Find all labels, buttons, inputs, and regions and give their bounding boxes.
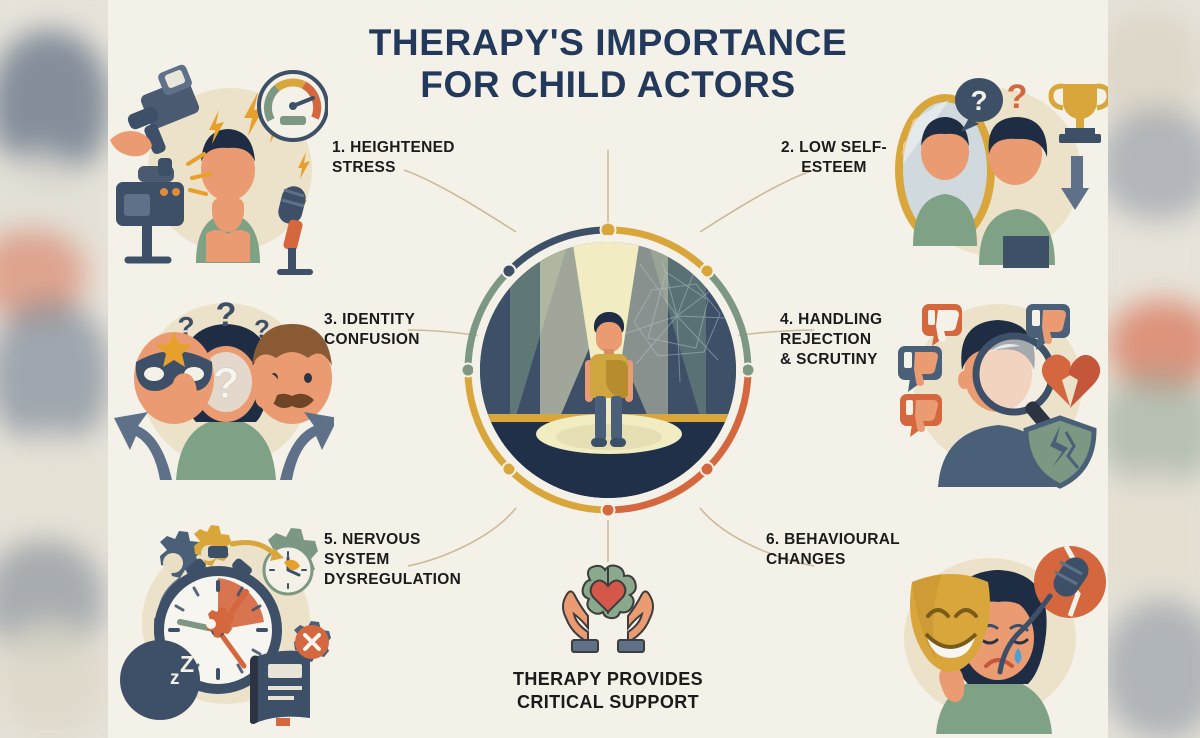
svg-text:?: ? bbox=[213, 359, 240, 408]
blurred-left-edge bbox=[0, 0, 108, 738]
infographic-canvas: Therapy's Importance for Child Actors bbox=[0, 0, 1200, 738]
hands-holding-brain-heart-icon bbox=[560, 562, 656, 654]
clock-gears-sleep-icon: z Z bbox=[116, 518, 336, 726]
stressed-child-with-cameras-icon bbox=[108, 58, 328, 278]
item-label-3: 3. Identity Confusion bbox=[324, 310, 474, 350]
svg-text:?: ? bbox=[1007, 78, 1028, 116]
svg-text:z: z bbox=[170, 668, 180, 689]
illustration-1 bbox=[108, 58, 328, 278]
svg-text:?: ? bbox=[970, 85, 987, 116]
blurred-right-edge bbox=[1108, 0, 1200, 738]
ring-node-left bbox=[462, 364, 475, 377]
illustration-5: z Z bbox=[116, 518, 336, 726]
ring-node-bottom bbox=[602, 504, 615, 517]
caption-line-1: Therapy Provides bbox=[513, 669, 703, 689]
item-label-1: 1. Heightened Stress bbox=[332, 138, 472, 178]
masks-identity-icon: ? ? ? ? bbox=[114, 280, 334, 485]
illustration-3: ? ? ? ? bbox=[114, 280, 334, 485]
title-line-1: Therapy's Importance bbox=[369, 22, 848, 63]
item-label-4: 4. Handling Rejection & Scrutiny bbox=[780, 310, 920, 369]
item-label-5: 5. Nervous System Dysregulation bbox=[324, 530, 504, 589]
center-graphic bbox=[460, 222, 756, 518]
poster-body: Therapy's Importance for Child Actors bbox=[108, 0, 1108, 738]
item-label-6: 6. Behavioural Changes bbox=[766, 530, 916, 570]
svg-text:?: ? bbox=[216, 296, 237, 334]
child-at-mirror-icon: ? ? bbox=[883, 60, 1108, 280]
footer-caption: Therapy Provides Critical Support bbox=[408, 668, 808, 715]
caption-line-2: Critical Support bbox=[408, 691, 808, 714]
spotlight-scene bbox=[480, 242, 736, 498]
item-label-2: 2. Low Self- Esteem bbox=[764, 138, 904, 178]
child-figure bbox=[584, 312, 634, 450]
ring-node-right bbox=[742, 364, 755, 377]
cracked-glass-icon bbox=[622, 256, 732, 386]
svg-text:Z: Z bbox=[180, 651, 194, 677]
illustration-2: ? ? bbox=[883, 60, 1108, 280]
ring-node-top bbox=[601, 223, 616, 238]
